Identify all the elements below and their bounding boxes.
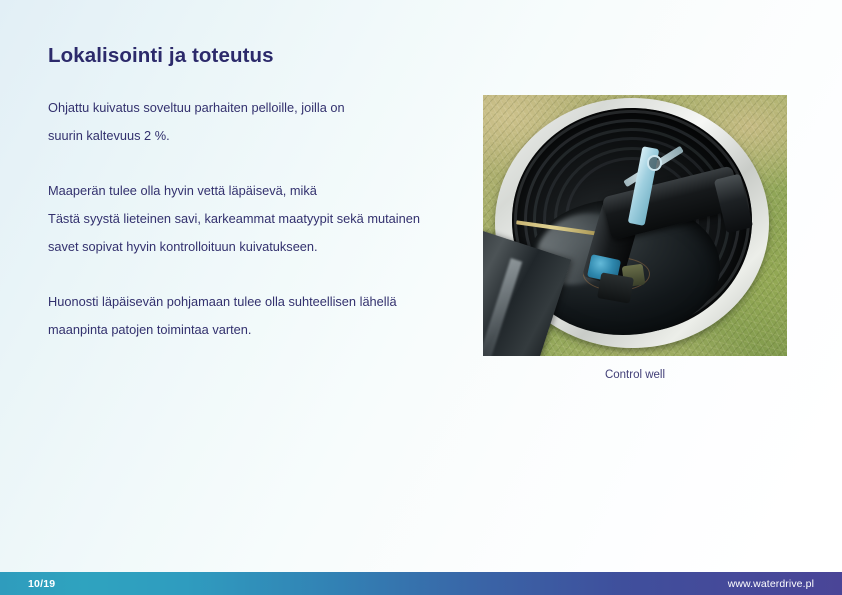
text-line: Tästä syystä lieteinen savi, karkeammat … [48, 205, 468, 233]
lever-pivot-eye [647, 155, 662, 171]
presentation-slide: Lokalisointi ja toteutus Ohjattu kuivatu… [0, 0, 842, 595]
paragraph-1: Ohjattu kuivatus soveltuu parhaiten pell… [48, 94, 468, 150]
page-number: 10/19 [14, 578, 55, 590]
photo-canvas [483, 95, 787, 356]
slide-footer: 10/19 www.waterdrive.pl [0, 572, 842, 595]
paragraph-3: Huonosti läpäisevän pohjamaan tulee olla… [48, 288, 468, 344]
footer-website-url[interactable]: www.waterdrive.pl [728, 578, 828, 590]
text-line: maanpinta patojen toimintaa varten. [48, 316, 468, 344]
control-well-photo [483, 95, 787, 356]
text-line: savet sopivat hyvin kontrolloituun kuiva… [48, 233, 468, 261]
figure-caption: Control well [483, 369, 787, 381]
text-line: Ohjattu kuivatus soveltuu parhaiten pell… [48, 94, 468, 122]
text-line: suurin kaltevuus 2 %. [48, 122, 468, 150]
text-line: Maaperän tulee olla hyvin vettä läpäisev… [48, 177, 468, 205]
paragraph-2: Maaperän tulee olla hyvin vettä läpäisev… [48, 177, 468, 261]
text-line: Huonosti läpäisevän pohjamaan tulee olla… [48, 288, 468, 316]
body-text-column: Ohjattu kuivatus soveltuu parhaiten pell… [48, 94, 468, 344]
page-title: Lokalisointi ja toteutus [48, 44, 274, 68]
